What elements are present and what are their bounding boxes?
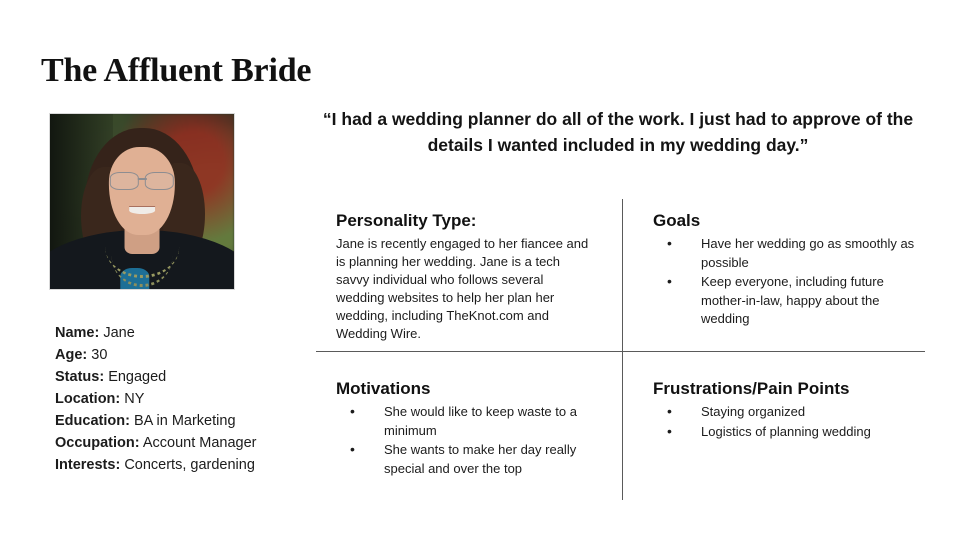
photo-face [109,147,175,235]
demographic-label-status: Status: [55,369,104,385]
personality-type-body: Jane is recently engaged to her fiancee … [336,235,594,343]
demographic-row-age: Age: 30 [55,344,305,366]
section-motivations: Motivations She would like to keep waste… [336,378,598,479]
photo-glasses-lens-right [145,172,174,190]
goals-heading: Goals [653,210,917,232]
demographic-label-age: Age: [55,347,87,363]
photo-glasses-bridge [137,178,146,179]
demographic-label-education: Education: [55,413,130,429]
photo-glasses-lens-left [110,172,139,190]
section-goals: Goals Have her wedding go as smoothly as… [653,210,917,330]
section-personality-type: Personality Type: Jane is recently engag… [336,210,594,343]
section-frustrations-pain-points: Frustrations/Pain Points Staying organiz… [653,378,923,442]
demographic-row-location: Location: NY [55,388,305,410]
quadrant-divider-horizontal [316,351,925,352]
persona-photo-image [50,114,234,289]
demographic-label-occupation: Occupation: [55,435,140,451]
demographic-row-interests: Interests: Concerts, gardening [55,454,305,476]
list-item: Keep everyone, including future mother-i… [653,273,917,329]
demographic-label-name: Name: [55,325,99,341]
frustrations-list: Staying organized Logistics of planning … [653,403,923,441]
demographic-value-education: BA in Marketing [134,413,236,429]
demographic-label-location: Location: [55,391,120,407]
demographic-value-location: NY [124,391,144,407]
quadrant-divider-vertical [622,199,623,500]
demographic-value-age: 30 [91,347,107,363]
motivations-list: She would like to keep waste to a minimu… [336,403,598,478]
goals-list: Have her wedding go as smoothly as possi… [653,235,917,329]
persona-slide: The Affluent Bride Name: Jane [0,0,960,540]
demographic-value-status: Engaged [108,369,166,385]
demographics-list: Name: Jane Age: 30 Status: Engaged Locat… [55,322,305,476]
demographic-row-occupation: Occupation: Account Manager [55,432,305,454]
list-item: Have her wedding go as smoothly as possi… [653,235,917,272]
list-item: Logistics of planning wedding [653,423,923,442]
motivations-heading: Motivations [336,378,598,400]
frustrations-heading: Frustrations/Pain Points [653,378,923,400]
demographic-value-interests: Concerts, gardening [124,457,255,473]
demographic-row-status: Status: Engaged [55,366,305,388]
demographic-label-interests: Interests: [55,457,120,473]
demographic-value-occupation: Account Manager [143,435,257,451]
photo-smile [129,207,155,214]
demographic-row-education: Education: BA in Marketing [55,410,305,432]
photo-glasses [110,172,174,188]
personality-type-heading: Personality Type: [336,210,594,232]
list-item: Staying organized [653,403,923,422]
demographic-value-name: Jane [103,325,134,341]
list-item: She would like to keep waste to a minimu… [336,403,598,440]
persona-photo [49,113,235,290]
demographic-row-name: Name: Jane [55,322,305,344]
persona-quote: “I had a wedding planner do all of the w… [318,106,918,158]
page-title: The Affluent Bride [41,51,311,91]
list-item: She wants to make her day really special… [336,441,598,478]
